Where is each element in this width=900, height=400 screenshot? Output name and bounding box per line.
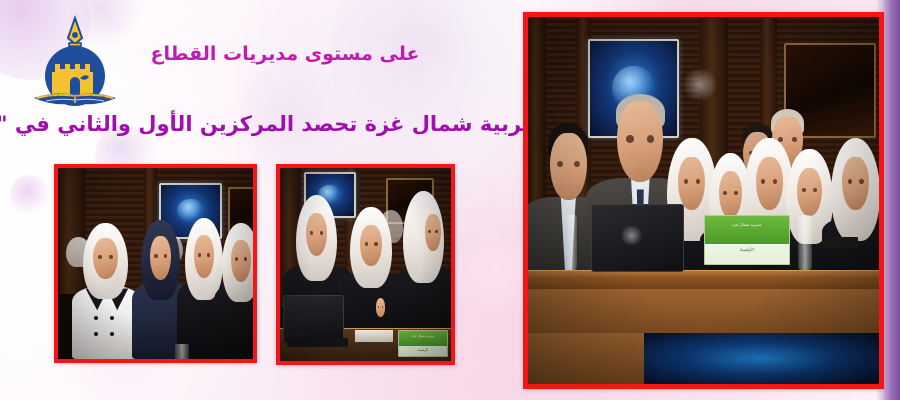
placard-line-1: مديرية شمال غزة [705,222,789,227]
news-banner: مديرية التربية والتعليم ـ شمال غزة على م… [0,0,900,400]
headline-main: تربية شمال غزة تحصد المركزين الأول والثا… [0,112,530,136]
podium-screen-strip [644,333,879,384]
person-1 [76,223,138,359]
name-placard: مديرية شمال غزة الأولمبياد [398,330,448,357]
student-3 [400,191,451,334]
man-2-face [617,101,663,182]
podium-lower-front [528,333,644,384]
person-4 [218,223,257,359]
student-2 [345,207,400,338]
water-glass [175,344,189,361]
podium-top [528,270,879,289]
water-glass [567,215,578,270]
student-3-face [425,214,440,251]
water-glass-2 [798,215,812,270]
coat-button [94,316,98,320]
photo-middle: مديرية شمال غزة الأولمبياد [276,164,455,365]
bokeh-circle-3 [10,175,50,215]
photo-right: مديرية شمال غزة الأولمبياد [523,12,884,389]
person-3-face [194,235,214,279]
woman-5-face [842,157,869,210]
photo-left [54,164,257,363]
woman-4-face [797,168,822,216]
person-1-face [93,238,118,279]
laptop [283,295,343,343]
woman-3-face [756,157,783,210]
logo-caption: مديرية التربية والتعليم ـ شمال غزة [24,93,128,102]
right-edge-purple-band [884,0,900,400]
laptop-logo-glare [619,226,644,244]
person-4-face [231,240,251,282]
name-placard: مديرية شمال غزة الأولمبياد [704,215,790,265]
placard-line-2: الأولمبياد [705,247,789,252]
headline-top: على مستوى مديريات القطاع [150,44,420,65]
placard-line-2: الأولمبياد [399,348,447,352]
woman-5 [830,138,884,285]
microphone [823,237,858,248]
placard-line-1: مديرية شمال غزة [399,334,447,338]
photo-right-scene: مديرية شمال غزة الأولمبياد [528,17,879,384]
ceiling-light [682,68,717,101]
laptop-keyboard [287,338,349,348]
paper-stack [355,330,393,342]
photo-left-scene [58,168,253,359]
photo-middle-scene: مديرية شمال غزة الأولمبياد [280,168,451,361]
man-1-face [550,133,587,201]
student-2-face [360,225,382,266]
placard-green-band [705,216,789,244]
